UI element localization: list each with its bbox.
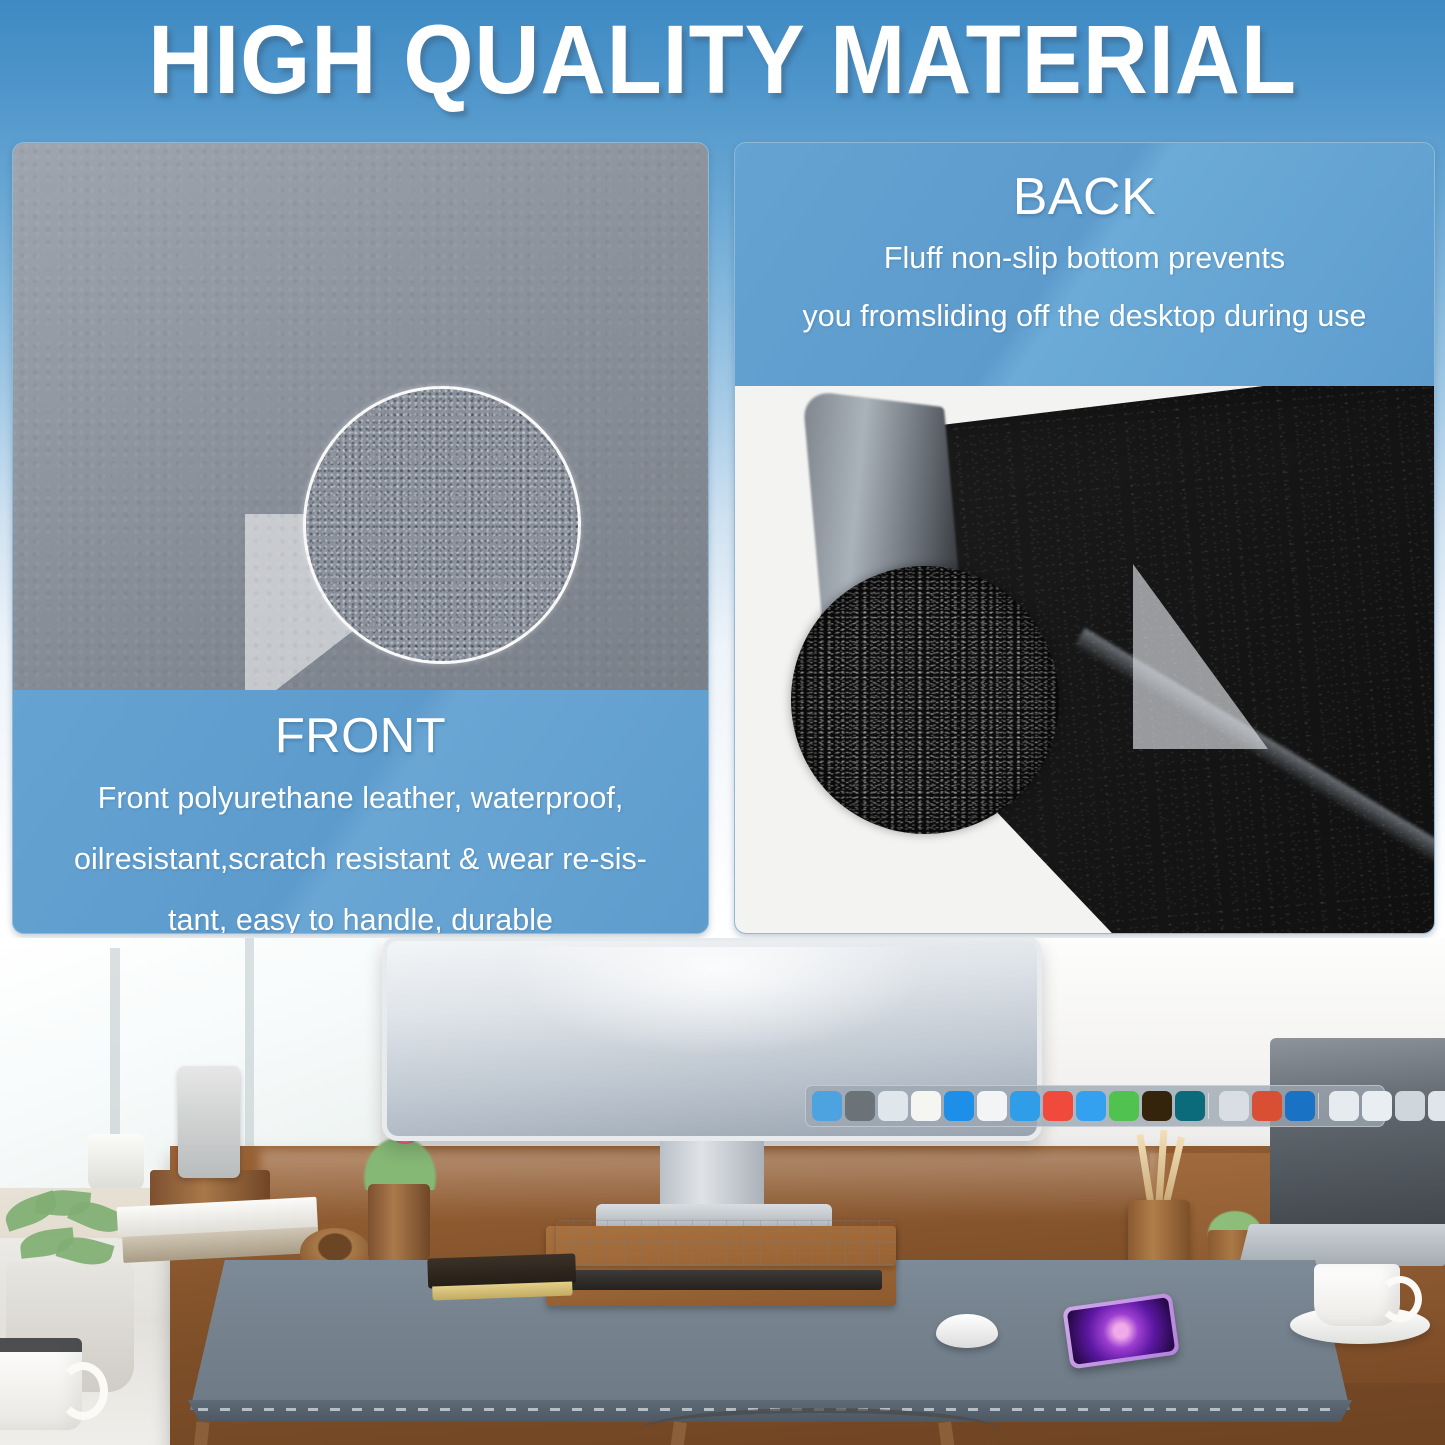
macos-dock[interactable] — [805, 1085, 1385, 1127]
mug-rim — [0, 1338, 82, 1352]
monitor-stand-neck — [660, 1141, 764, 1211]
smartphone-screen — [1067, 1297, 1176, 1365]
notebook — [427, 1253, 577, 1304]
illustrator-icon[interactable] — [1142, 1091, 1172, 1121]
back-product-photo — [735, 386, 1434, 933]
front-magnifier-circle — [303, 386, 581, 664]
back-description-line-1: Fluff non-slip bottom prevents — [735, 223, 1434, 281]
trash-icon[interactable] — [1428, 1091, 1445, 1121]
desktop-monitor — [382, 938, 1042, 1141]
pencils — [1136, 1134, 1186, 1204]
news-icon[interactable] — [1219, 1091, 1249, 1121]
powerpoint-icon[interactable] — [1252, 1091, 1282, 1121]
lifestyle-scene — [0, 938, 1445, 1445]
document-icon[interactable] — [1329, 1091, 1359, 1121]
system-preferences-icon[interactable] — [845, 1091, 875, 1121]
laptop-base — [1239, 1224, 1445, 1266]
laptop — [1252, 1038, 1445, 1268]
coffee-cup — [1314, 1264, 1400, 1326]
sketch-icon[interactable] — [1076, 1091, 1106, 1121]
front-product-photo — [13, 143, 708, 690]
front-caption-block: FRONT Front polyurethane leather, waterp… — [13, 690, 708, 933]
xmind-icon[interactable] — [1043, 1091, 1073, 1121]
front-description-line-2: oilresistant,scratch resistant & wear re… — [13, 822, 708, 883]
mouse — [936, 1314, 998, 1348]
docked-smartphone — [178, 1066, 240, 1178]
app-store-icon[interactable] — [944, 1091, 974, 1121]
front-panel: FRONT Front polyurethane leather, waterp… — [12, 142, 709, 934]
safari-icon[interactable] — [1010, 1091, 1040, 1121]
front-description-line-1: Front polyurethane leather, waterproof, — [13, 761, 708, 822]
infographic-canvas: HIGH QUALITY MATERIAL FRONT Front polyur… — [0, 0, 1445, 1445]
back-magnifier-cone-icon — [1133, 564, 1268, 749]
front-description-line-3: tant, easy to handle, durable — [13, 883, 708, 934]
wrist-rest — [562, 1270, 882, 1290]
reminders-icon[interactable] — [911, 1091, 941, 1121]
front-magnifier-cone-icon — [245, 514, 505, 714]
outlook-icon[interactable] — [1285, 1091, 1315, 1121]
back-caption-block: BACK Fluff non-slip bottom prevents you … — [735, 143, 1434, 386]
dock-separator — [1318, 1093, 1326, 1119]
keyboard — [556, 1220, 896, 1266]
desk-leg — [194, 1421, 210, 1445]
photos-editor-icon[interactable] — [878, 1091, 908, 1121]
spreadsheet-icon[interactable] — [1362, 1091, 1392, 1121]
screenshot-icon[interactable] — [1395, 1091, 1425, 1121]
wechat-icon[interactable] — [1109, 1091, 1139, 1121]
back-panel: BACK Fluff non-slip bottom prevents you … — [734, 142, 1435, 934]
photos-icon[interactable] — [977, 1091, 1007, 1121]
book-stack — [117, 1197, 320, 1267]
photoshop-icon[interactable] — [1175, 1091, 1205, 1121]
laptop-lid — [1270, 1038, 1445, 1228]
back-magnifier-circle — [791, 566, 1059, 834]
shelf-plant-pot — [88, 1134, 144, 1190]
back-heading: BACK — [735, 143, 1434, 223]
front-heading: FRONT — [13, 690, 708, 761]
dock-separator — [1208, 1093, 1216, 1119]
back-description-line-2: you fromsliding off the desktop during u… — [735, 281, 1434, 339]
screen-glare — [507, 947, 927, 1057]
wooden-flower-pot — [368, 1184, 430, 1262]
page-title: HIGH QUALITY MATERIAL — [51, 8, 1395, 112]
finder-icon[interactable] — [812, 1091, 842, 1121]
